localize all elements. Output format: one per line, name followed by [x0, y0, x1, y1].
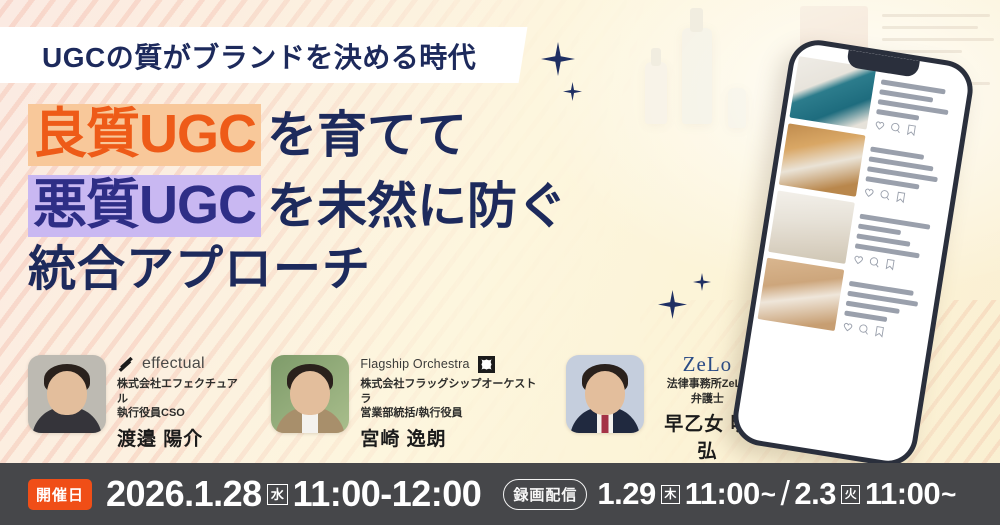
live-day-of-week: 水	[267, 484, 288, 505]
comment-icon[interactable]	[879, 188, 892, 201]
replay-badge: 録画配信	[503, 479, 587, 510]
heart-icon[interactable]	[863, 186, 876, 199]
headline-line-1-rest: を育てて	[267, 110, 467, 160]
avatar	[271, 355, 349, 433]
live-date-badge: 開催日	[28, 479, 92, 510]
flagship-orchestra-logo-icon	[478, 356, 495, 373]
heart-icon[interactable]	[842, 320, 855, 333]
headline-line-3: 統合アプローチ	[28, 246, 567, 294]
bookmark-icon[interactable]	[905, 124, 918, 137]
speaker-company: 株式会社エフェクチュアル	[117, 377, 247, 406]
banner-subtitle: UGCの質がブランドを決める時代	[42, 36, 476, 76]
headline-highlight-good-ugc: 良質UGC	[28, 104, 261, 166]
live-time-value: 11:00-12:00	[293, 473, 482, 515]
avatar	[566, 355, 644, 433]
speaker-company: 株式会社フラッグシップオーケストラ	[360, 377, 545, 406]
speaker-name: 渡邉 陽介	[117, 424, 247, 451]
headline-line-2: 悪質UGC を未然に防ぐ	[28, 175, 567, 237]
heart-icon[interactable]	[852, 253, 865, 266]
webinar-banner: UGCの質がブランドを決める時代 良質UGC を育てて 悪質UGC を未然に防ぐ…	[0, 0, 1000, 525]
heart-icon[interactable]	[874, 119, 887, 132]
speaker-card: ZeLo 法律事務所ZeLo 弁護士 早乙女 明弘	[566, 352, 760, 460]
speaker-list: effectual 株式会社エフェクチュアル 執行役員CSO 渡邉 陽介 Fla…	[0, 352, 760, 460]
phone-mockup	[742, 48, 1000, 460]
post-image-bedroom	[768, 190, 855, 263]
schedule-separator: /	[780, 475, 789, 514]
speaker-card: Flagship Orchestra 株式会社フラッグシップオーケストラ 営業部…	[271, 352, 545, 460]
headline-highlight-bad-ugc: 悪質UGC	[28, 175, 261, 237]
headline-line-2-rest: を未然に防ぐ	[267, 181, 567, 231]
social-feed	[753, 42, 972, 352]
schedule-bar: 開催日 2026.1.28 水 11:00-12:00 録画配信 1.29 木 …	[0, 463, 1000, 525]
live-date-value: 2026.1.28	[106, 473, 262, 515]
replay2-tilde: ~	[941, 479, 956, 510]
bookmark-icon[interactable]	[873, 325, 886, 338]
replay2-date-value: 2.3	[794, 476, 836, 512]
speaker-logo-name: Flagship Orchestra	[360, 357, 469, 371]
headline-line-1: 良質UGC を育てて	[28, 104, 567, 166]
speaker-logo-name: effectual	[142, 355, 205, 373]
bookmark-icon[interactable]	[895, 191, 908, 204]
comment-icon[interactable]	[889, 121, 902, 134]
post-image-sneakers	[758, 258, 845, 331]
avatar	[28, 355, 106, 433]
bookmark-icon[interactable]	[884, 258, 897, 271]
banner-headline: 良質UGC を育てて 悪質UGC を未然に防ぐ 統合アプローチ	[28, 104, 567, 294]
effectual-logo-icon	[117, 356, 136, 372]
comment-icon[interactable]	[868, 256, 881, 269]
replay1-time-value: 11:00	[685, 476, 760, 512]
replay2-day-of-week: 火	[841, 485, 860, 504]
speaker-name: 宮崎 逸朗	[360, 424, 545, 451]
replay1-date-value: 1.29	[597, 476, 655, 512]
replay1-day-of-week: 木	[661, 485, 680, 504]
speaker-title: 執行役員CSO	[117, 406, 247, 421]
speaker-card: effectual 株式会社エフェクチュアル 執行役員CSO 渡邉 陽介	[28, 352, 247, 460]
replay-schedule: 1.29 木 11:00 ~ / 2.3 火 11:00 ~	[597, 475, 955, 514]
comment-icon[interactable]	[857, 323, 870, 336]
speaker-logo-name: ZeLo	[683, 352, 732, 377]
replay1-tilde: ~	[761, 479, 776, 510]
speaker-title: 営業部統括/執行役員	[360, 406, 545, 421]
post-image-coffee-mugs	[779, 123, 866, 196]
replay2-time-value: 11:00	[865, 476, 940, 512]
live-schedule: 2026.1.28 水 11:00-12:00	[106, 473, 481, 515]
